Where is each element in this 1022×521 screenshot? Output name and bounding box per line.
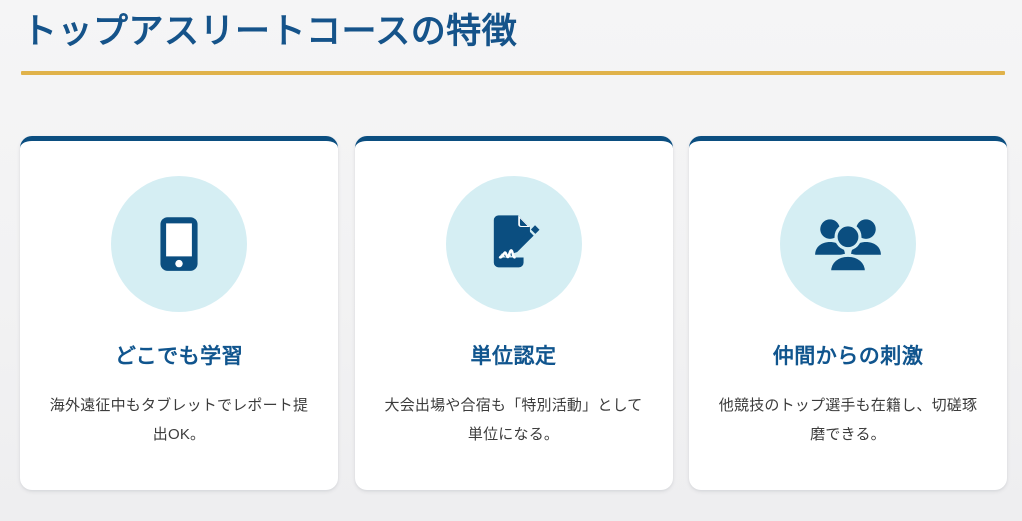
feature-card-title: 仲間からの刺激 — [773, 343, 924, 370]
feature-card-title: どこでも学習 — [115, 343, 243, 370]
users-group-icon — [811, 207, 885, 281]
feature-card[interactable]: 単位認定 大会出場や合宿も「特別活動」として単位になる。 — [355, 136, 673, 490]
feature-card[interactable]: 仲間からの刺激 他競技のトップ選手も在籍し、切磋琢磨できる。 — [689, 136, 1007, 490]
feature-card-list: どこでも学習 海外遠征中もタブレットでレポート提出OK。 — [20, 136, 1007, 490]
icon-badge — [446, 176, 582, 312]
feature-section: トップアスリートコースの特徴 どこでも学習 海外遠征中もタブレットでレポート提出… — [0, 0, 1022, 521]
icon-badge — [111, 176, 247, 312]
feature-card-description: 海外遠征中もタブレットでレポート提出OK。 — [44, 392, 314, 450]
feature-card-description: 他競技のトップ選手も在籍し、切磋琢磨できる。 — [713, 392, 983, 450]
tablet-icon — [146, 211, 212, 277]
file-signature-icon — [480, 210, 548, 278]
title-underline-rule — [21, 71, 1005, 75]
feature-card[interactable]: どこでも学習 海外遠征中もタブレットでレポート提出OK。 — [20, 136, 338, 490]
page-title: トップアスリートコースの特徴 — [22, 11, 517, 53]
feature-card-description: 大会出場や合宿も「特別活動」として単位になる。 — [379, 392, 649, 450]
feature-card-title: 単位認定 — [471, 343, 557, 370]
icon-badge — [780, 176, 916, 312]
